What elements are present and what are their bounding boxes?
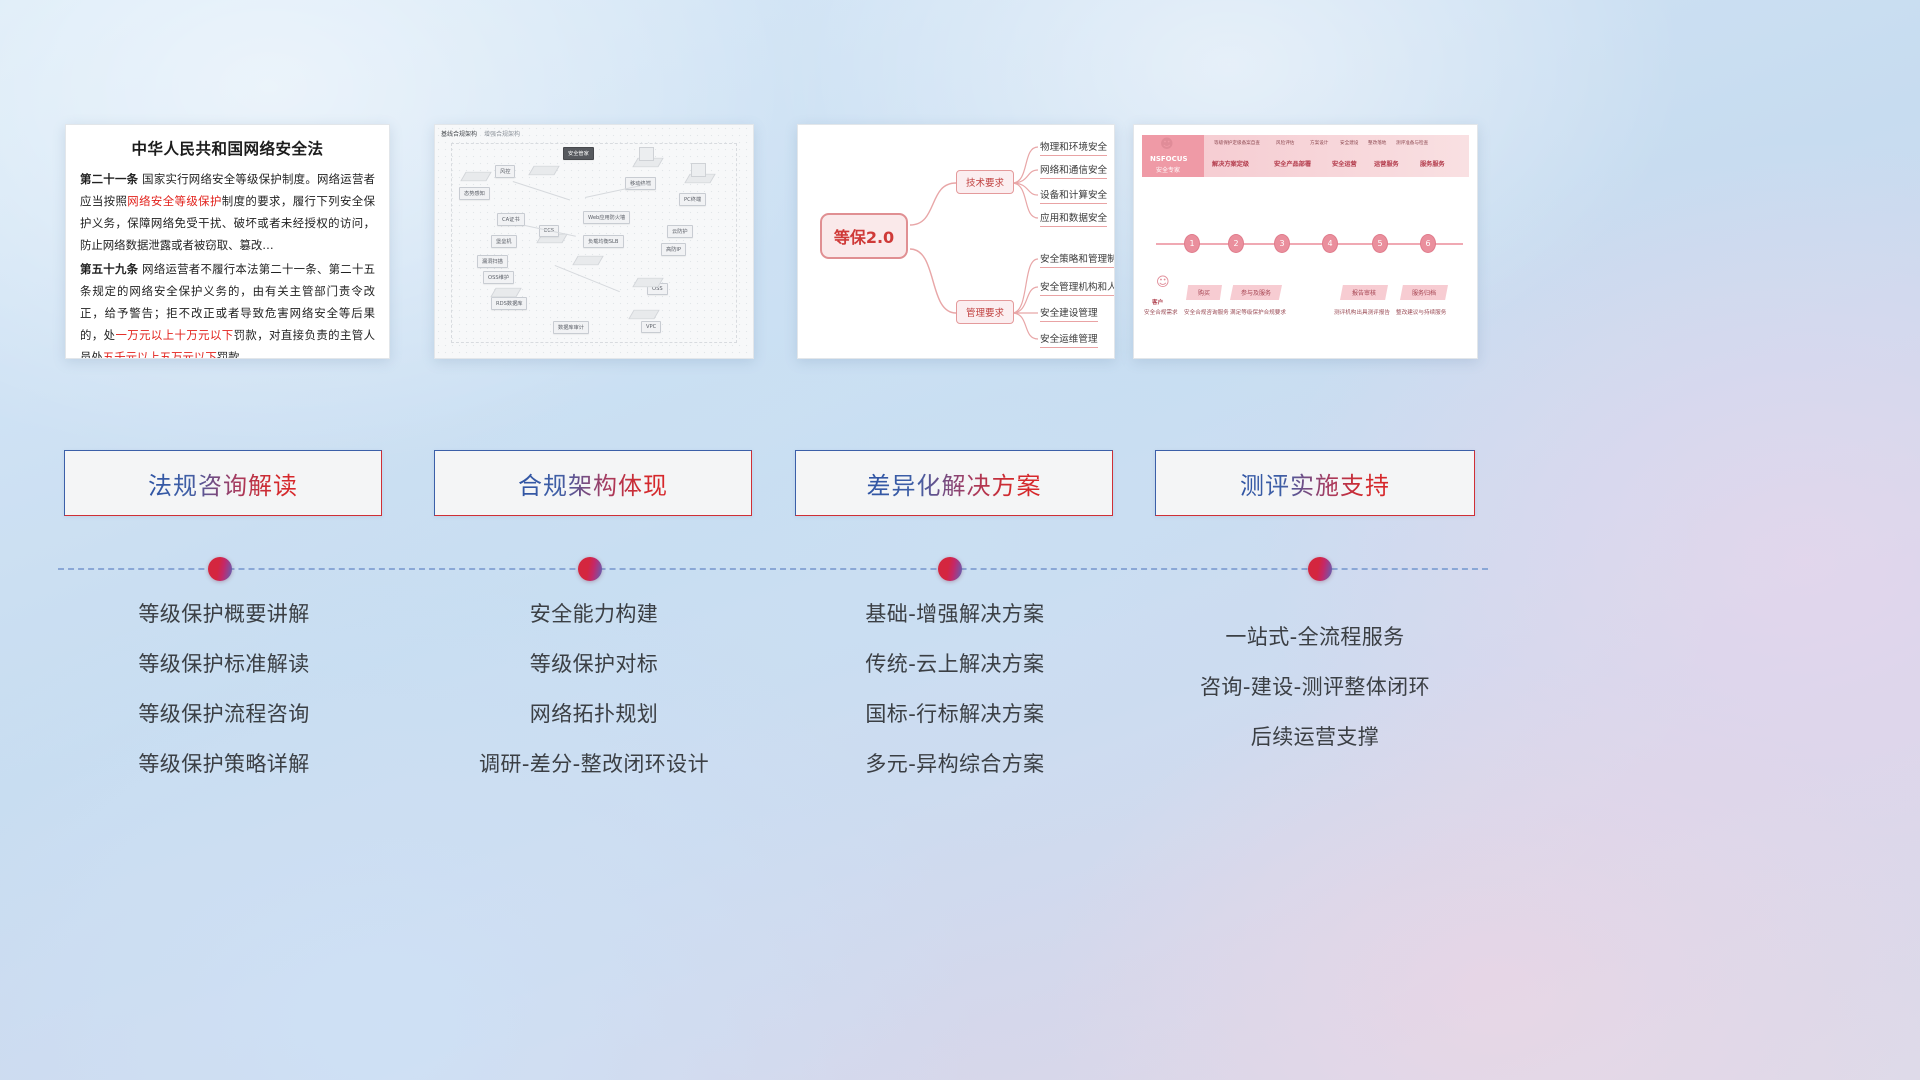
article-59-highlight-2: 五千元以上五万元以下 xyxy=(103,350,217,359)
roadmap-tiny-6: 测评准备与检查 xyxy=(1396,140,1428,146)
roadmap-axis xyxy=(1156,243,1463,245)
arch-platform-rds xyxy=(490,288,521,297)
roadmap-step-4: 4 xyxy=(1322,234,1338,253)
arch-node-security-butler: 安全管家 xyxy=(563,147,594,160)
roadmap-bottom-tag-4: 服务归档 xyxy=(1400,285,1448,300)
detail-item: 国标-行标解决方案 xyxy=(795,704,1115,725)
arch-device-pc xyxy=(691,163,706,177)
detail-item: 安全能力构建 xyxy=(434,604,754,625)
headline-label-2: 合规架构体现 xyxy=(518,466,668,501)
arch-platform-slb xyxy=(572,256,603,265)
detail-item: 后续运营支撑 xyxy=(1155,727,1475,748)
detail-item: 一站式-全流程服务 xyxy=(1155,627,1475,648)
mindmap-leaf-app-data: 应用和数据安全 xyxy=(1040,210,1107,227)
mindmap-leaf-network-comm: 网络和通信安全 xyxy=(1040,162,1107,179)
roadmap-tiny-4: 安全建设 xyxy=(1340,140,1358,146)
roadmap-brand-name: NSFOCUS xyxy=(1150,155,1188,163)
roadmap-tag-3: 安全运营 xyxy=(1332,159,1357,168)
arch-device-mobile xyxy=(639,147,654,161)
detail-item: 传统-云上解决方案 xyxy=(795,654,1115,675)
roadmap-tiny-2: 风险评估 xyxy=(1276,140,1294,146)
detail-columns: 等级保护概要讲解 等级保护标准解读 等级保护流程咨询 等级保护策略详解 安全能力… xyxy=(0,604,1920,824)
law-title: 中华人民共和国网络安全法 xyxy=(80,137,375,159)
roadmap-step-5: 5 xyxy=(1372,234,1388,253)
roadmap-tag-1: 解决方案定级 xyxy=(1212,159,1249,168)
arch-platform-1 xyxy=(460,172,491,181)
roadmap-bottom-tiny-1: 安全合规咨询服务 xyxy=(1184,308,1229,316)
arch-node-pc-terminal: PC终端 xyxy=(679,193,706,206)
mindmap-leaf-org-personnel: 安全管理机构和人员 xyxy=(1040,279,1115,296)
architecture-tabs[interactable]: 基线合规架构 增强合规架构 xyxy=(441,129,520,138)
headline-label-1: 法规咨询解读 xyxy=(148,466,298,501)
detail-item: 等级保护策略详解 xyxy=(64,754,384,775)
roadmap-diagram: ☻ NSFOCUS 安全专家 等级保护定级备案自查 风险评估 方案设计 安全建设… xyxy=(1134,125,1477,358)
article-59-highlight-1: 一万元以上十万元以下 xyxy=(115,328,233,342)
roadmap-tag-4: 运营服务 xyxy=(1374,159,1399,168)
timeline-dot-2[interactable] xyxy=(578,557,602,581)
arch-node-anti-ddos: 高防IP xyxy=(661,243,686,256)
mindmap-root-node: 等保2.0 xyxy=(820,213,908,259)
roadmap-customer-label: 客户 xyxy=(1152,298,1163,306)
arch-node-vuln-scan: 漏洞扫描 xyxy=(477,255,508,268)
roadmap-step-2: 2 xyxy=(1228,234,1244,253)
headline-box-compliance-architecture[interactable]: 合规架构体现 xyxy=(434,450,752,516)
mindmap-leaf-physical-env: 物理和环境安全 xyxy=(1040,139,1107,156)
mindmap-branch-technical: 技术要求 xyxy=(956,170,1014,194)
card-cloud-architecture[interactable]: 基线合规架构 增强合规架构 安全管家 风控 态势感知 移动终端 PC终端 Web… xyxy=(434,124,754,359)
arch-node-cloud-protect: 云防护 xyxy=(667,225,693,238)
roadmap-bottom-tiny-3: 测评机构出具测评报告 xyxy=(1334,308,1390,316)
tab-enhanced-architecture[interactable]: 增强合规架构 xyxy=(484,129,520,138)
detail-item: 网络拓扑规划 xyxy=(434,704,754,725)
arch-node-bastion: 堡垒机 xyxy=(491,235,517,248)
arch-node-rds: RDS数据库 xyxy=(491,297,527,310)
roadmap-tiny-3: 方案设计 xyxy=(1310,140,1328,146)
arch-platform-oss xyxy=(632,278,663,287)
headline-box-differentiated-solution[interactable]: 差异化解决方案 xyxy=(795,450,1113,516)
poster-root: 中华人民共和国网络安全法 第二十一条 国家实行网络安全等级保护制度。网络运营者应… xyxy=(0,0,1920,1080)
roadmap-tag-2: 安全产品部署 xyxy=(1274,159,1311,168)
detail-item: 调研-差分-整改闭环设计 xyxy=(434,754,754,775)
mindmap-leaf-policy-system: 安全策略和管理制度 xyxy=(1040,251,1115,268)
roadmap-tiny-1: 等级保护定级备案自查 xyxy=(1214,140,1260,146)
arch-node-slb: 负载均衡SLB xyxy=(583,235,624,248)
roadmap-step-6: 6 xyxy=(1420,234,1436,253)
roadmap-tiny-5: 整改落地 xyxy=(1368,140,1386,146)
screenshot-card-row: 中华人民共和国网络安全法 第二十一条 国家实行网络安全等级保护制度。网络运营者应… xyxy=(0,124,1920,364)
roadmap-step-3: 3 xyxy=(1274,234,1290,253)
detail-item: 等级保护标准解读 xyxy=(64,654,384,675)
timeline-dot-3[interactable] xyxy=(938,557,962,581)
tab-baseline-architecture[interactable]: 基线合规架构 xyxy=(441,129,477,138)
article-59-label: 第五十九条 xyxy=(80,262,138,276)
roadmap-bottom-tag-1: 购买 xyxy=(1186,285,1222,300)
roadmap-bottom-tiny-2: 满足等级保护合规要求 xyxy=(1230,308,1286,316)
headline-row: 法规咨询解读 合规架构体现 差异化解决方案 测评实施支持 xyxy=(0,450,1920,516)
expert-icon: ☻ xyxy=(1160,137,1174,152)
arch-node-ca-cert: CA证书 xyxy=(497,213,525,226)
mindmap-leaf-construction-mgmt: 安全建设管理 xyxy=(1040,305,1098,322)
roadmap-bottom-tag-3: 报告审核 xyxy=(1340,285,1388,300)
timeline xyxy=(58,568,1488,571)
arch-node-vpc: VPC xyxy=(641,321,661,333)
mindmap-branch-management: 管理要求 xyxy=(956,300,1014,324)
roadmap-customer-sub: 安全合规需求 xyxy=(1144,308,1178,316)
detail-item: 咨询-建设-测评整体闭环 xyxy=(1155,677,1475,698)
law-article-21: 第二十一条 国家实行网络安全等级保护制度。网络运营者应当按照网络安全等级保护制度… xyxy=(80,168,375,256)
card-mindmap[interactable]: 等保2.0 技术要求 管理要求 物理和环境安全 网络和通信安全 设备和计算安全 … xyxy=(797,124,1115,359)
roadmap-step-1: 1 xyxy=(1184,234,1200,253)
article-21-highlight: 网络安全等级保护 xyxy=(127,194,222,208)
roadmap-tag-5: 服务服务 xyxy=(1420,159,1445,168)
mindmap-leaf-device-compute: 设备和计算安全 xyxy=(1040,187,1107,204)
arch-platform-2 xyxy=(528,166,559,175)
detail-column-4: 一站式-全流程服务 咨询-建设-测评整体闭环 后续运营支撑 xyxy=(1155,604,1475,777)
detail-item: 多元-异构综合方案 xyxy=(795,754,1115,775)
card-roadmap[interactable]: ☻ NSFOCUS 安全专家 等级保护定级备案自查 风险评估 方案设计 安全建设… xyxy=(1133,124,1478,359)
roadmap-bottom-tag-2: 参与及服务 xyxy=(1230,285,1282,300)
arch-node-db-audit: 数据库审计 xyxy=(553,321,589,334)
detail-column-3: 基础-增强解决方案 传统-云上解决方案 国标-行标解决方案 多元-异构综合方案 xyxy=(795,604,1115,804)
arch-platform-vpc xyxy=(628,310,659,319)
mindmap-diagram: 等保2.0 技术要求 管理要求 物理和环境安全 网络和通信安全 设备和计算安全 … xyxy=(798,125,1114,358)
law-article-59: 第五十九条 网络运营者不履行本法第二十一条、第二十五条规定的网络安全保护义务的，… xyxy=(80,258,375,359)
mindmap-leaf-ops-mgmt: 安全运维管理 xyxy=(1040,331,1098,348)
card-law-document[interactable]: 中华人民共和国网络安全法 第二十一条 国家实行网络安全等级保护制度。网络运营者应… xyxy=(65,124,390,359)
detail-item: 等级保护对标 xyxy=(434,654,754,675)
arch-node-oss-maintain: OSS维护 xyxy=(483,271,514,284)
detail-column-2: 安全能力构建 等级保护对标 网络拓扑规划 调研-差分-整改闭环设计 xyxy=(434,604,754,804)
arch-node-waf: Web应用防火墙 xyxy=(583,211,630,224)
law-document-body: 中华人民共和国网络安全法 第二十一条 国家实行网络安全等级保护制度。网络运营者应… xyxy=(66,125,389,359)
headline-box-assessment-support[interactable]: 测评实施支持 xyxy=(1155,450,1475,516)
detail-item: 等级保护流程咨询 xyxy=(64,704,384,725)
headline-label-4: 测评实施支持 xyxy=(1240,466,1390,501)
headline-box-regulation-consulting[interactable]: 法规咨询解读 xyxy=(64,450,382,516)
roadmap-bottom-tiny-4: 整改建议与持续服务 xyxy=(1396,308,1446,316)
headline-label-3: 差异化解决方案 xyxy=(867,466,1042,501)
article-21-label: 第二十一条 xyxy=(80,172,138,186)
customer-icon: ☺ xyxy=(1156,275,1170,290)
arch-node-situational-awareness: 态势感知 xyxy=(459,187,490,200)
article-59-text-c: 罚款。 xyxy=(217,350,251,359)
roadmap-brand-sub: 安全专家 xyxy=(1156,165,1180,174)
detail-item: 等级保护概要讲解 xyxy=(64,604,384,625)
timeline-dot-4[interactable] xyxy=(1308,557,1332,581)
detail-column-1: 等级保护概要讲解 等级保护标准解读 等级保护流程咨询 等级保护策略详解 xyxy=(64,604,384,804)
timeline-dot-1[interactable] xyxy=(208,557,232,581)
architecture-diagram: 基线合规架构 增强合规架构 安全管家 风控 态势感知 移动终端 PC终端 Web… xyxy=(435,125,753,358)
detail-item: 基础-增强解决方案 xyxy=(795,604,1115,625)
timeline-dashed-line xyxy=(58,568,1488,570)
arch-node-riskcontrol: 风控 xyxy=(495,165,515,178)
